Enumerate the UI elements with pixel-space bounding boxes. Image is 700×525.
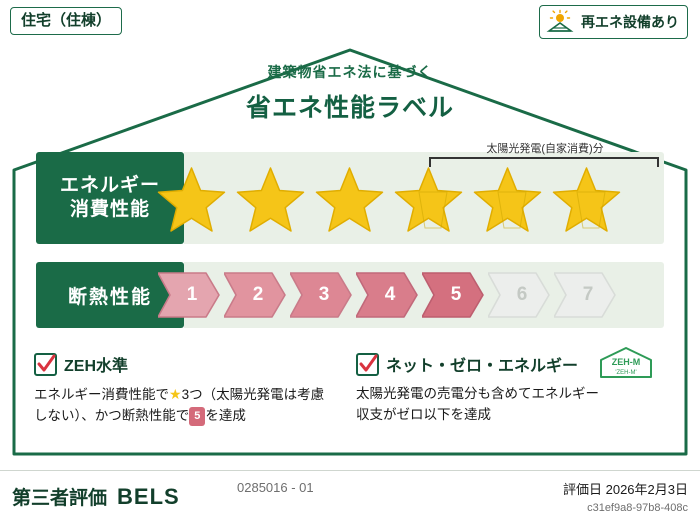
third-party-evaluation-label: 第三者評価 [12, 483, 107, 510]
zeh-note-header: ZEH水準 [34, 352, 334, 376]
grade-value: 2 [247, 284, 264, 306]
grade-chevron-inactive: 7 [554, 272, 616, 318]
document-hash: c31ef9a8-97b8-408c [563, 502, 688, 514]
renewable-equipment-label: 再エネ設備あり [581, 12, 679, 32]
pv-note-label: 太陽光発電(自家消費)分 [425, 140, 665, 156]
sun-house-icon [545, 9, 575, 35]
grade-chevron-inactive: 6 [488, 272, 550, 318]
star-icon [231, 162, 310, 238]
evaluation-date: 評価日 2026年2月3日 [563, 479, 688, 498]
grade-value: 6 [511, 284, 528, 306]
building-type-badge: 住宅（住棟） [10, 7, 122, 35]
check-icon [34, 353, 57, 376]
net-zero-note-title: ネット・ゼロ・エネルギー [386, 352, 578, 376]
net-zero-body-line2: 収支がゼロ以下を達成 [356, 405, 676, 426]
energy-label-line2: 消費性能 [70, 198, 150, 222]
grade-chevron: 5 [422, 272, 484, 318]
star-icon-pv [468, 162, 547, 238]
footer-right: 評価日 2026年2月3日 c31ef9a8-97b8-408c [563, 479, 688, 514]
header-row: 住宅（住棟） 再エネ設備あり [0, 0, 700, 46]
net-zero-note-body: 太陽光発電の売電分も含めてエネルギー 収支がゼロ以下を達成 [356, 384, 676, 426]
zeh-body-part1: エネルギー消費性能で [34, 387, 169, 402]
zeh-note-title: ZEH水準 [64, 352, 128, 376]
grade-value: 5 [445, 284, 462, 306]
grade-value: 7 [577, 284, 594, 306]
star-icon [310, 162, 389, 238]
label-title: 省エネ性能ラベル [0, 88, 700, 124]
zeh-m-house-icon: ZEH-M 'ZEH-M' [598, 346, 654, 380]
zeh-note-body: エネルギー消費性能で★3つ（太陽光発電は考慮しない）、かつ断熱性能で5を達成 [34, 384, 334, 427]
renewable-equipment-badge: 再エネ設備あり [539, 5, 688, 39]
footer: 第三者評価 BELS 0285016 - 01 評価日 2026年2月3日 c3… [0, 470, 700, 525]
star-icon-pv [547, 162, 626, 238]
footer-left: 第三者評価 BELS [12, 483, 180, 510]
check-icon [356, 353, 379, 376]
label-subtitle: 建築物省エネ法に基づく [0, 62, 700, 82]
grade-value: 3 [313, 284, 330, 306]
grade-chevron: 4 [356, 272, 418, 318]
title-block: 建築物省エネ法に基づく 省エネ性能ラベル [0, 62, 700, 124]
inline-grade-badge: 5 [189, 407, 205, 426]
grade-value: 1 [181, 284, 198, 306]
energy-label-line1: エネルギー [60, 174, 160, 198]
grade-chevron: 2 [224, 272, 286, 318]
certificate-number: 0285016 - 01 [237, 479, 387, 497]
energy-star-rating [152, 162, 628, 238]
grade-chevron: 1 [158, 272, 220, 318]
bels-logo: BELS [117, 484, 180, 510]
zeh-body-part4: を達成 [205, 408, 246, 423]
svg-text:ZEH-M: ZEH-M [612, 357, 641, 367]
net-zero-note-header: ネット・ゼロ・エネルギー ZEH-M 'ZEH-M' [356, 352, 676, 376]
net-zero-note: ネット・ゼロ・エネルギー ZEH-M 'ZEH-M' 太陽光発電の売電分も含めて… [356, 352, 676, 426]
net-zero-body-line1: 太陽光発電の売電分も含めてエネルギー [356, 384, 676, 405]
grade-value: 4 [379, 284, 396, 306]
grade-chevron: 3 [290, 272, 352, 318]
energy-performance-label: 住宅（住棟） 再エネ設備あり [0, 0, 700, 525]
zeh-body-part2: 3つ（太陽光発電 [182, 387, 284, 402]
inline-star-icon: ★ [169, 386, 182, 402]
zeh-note: ZEH水準 エネルギー消費性能で★3つ（太陽光発電は考慮しない）、かつ断熱性能で… [34, 352, 334, 427]
star-icon [152, 162, 231, 238]
svg-text:'ZEH-M': 'ZEH-M' [615, 370, 636, 376]
star-icon-pv [389, 162, 468, 238]
insulation-grade-scale: 1 2 3 4 5 [158, 272, 620, 318]
